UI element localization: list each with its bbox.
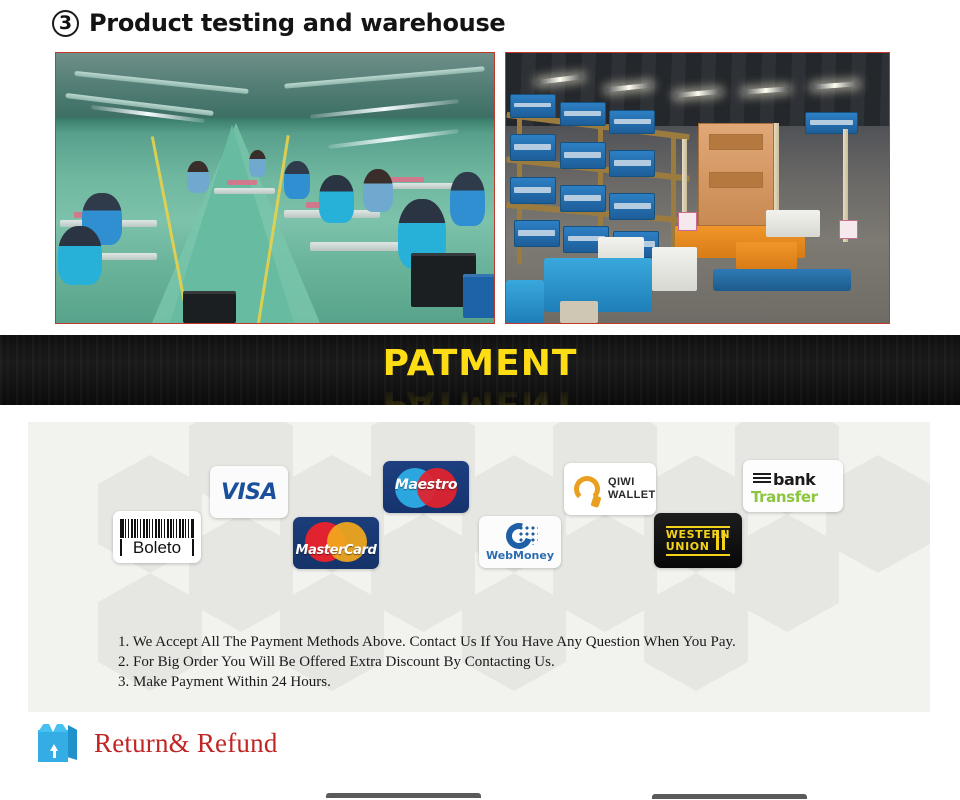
bank-lines-icon bbox=[753, 473, 771, 485]
warehouse-racks-photo bbox=[505, 52, 890, 324]
payment-terms-list: 1. We Accept All The Payment Methods Abo… bbox=[118, 632, 878, 692]
payment-banner-title: PATMENT bbox=[0, 343, 960, 384]
return-refund-section: Return& Refund bbox=[36, 722, 278, 764]
payment-banner-reflection: PATMENT bbox=[0, 383, 960, 405]
payment-logo-boleto[interactable]: Boleto bbox=[113, 511, 201, 563]
mastercard-label: MasterCard bbox=[293, 543, 379, 558]
bank-transfer-label-line2: Transfer bbox=[751, 488, 818, 506]
box-return-icon bbox=[36, 722, 78, 764]
payment-logo-bank-transfer[interactable]: bank Transfer bbox=[743, 460, 843, 512]
page-title: Product testing and warehouse bbox=[89, 9, 505, 37]
payment-banner: PATMENT PATMENT bbox=[0, 335, 960, 405]
qiwi-label-line1: QIWI bbox=[608, 476, 656, 489]
product-listing-page: 3 Product testing and warehouse bbox=[0, 0, 960, 800]
section-header: 3 Product testing and warehouse bbox=[0, 0, 960, 46]
factory-assembly-line-photo bbox=[55, 52, 495, 324]
webmoney-dots-icon bbox=[518, 525, 538, 545]
bank-transfer-label-line1: bank bbox=[773, 470, 815, 489]
payment-logo-western-union[interactable]: WESTERN UNION bbox=[654, 513, 742, 568]
payment-logo-maestro[interactable]: Maestro bbox=[383, 461, 469, 513]
qiwi-tail-icon bbox=[590, 495, 601, 508]
boleto-label: Boleto bbox=[120, 539, 194, 556]
payment-term-2: 2. For Big Order You Will Be Offered Ext… bbox=[118, 652, 878, 672]
photo-row bbox=[0, 52, 960, 330]
payment-term-3: 3. Make Payment Within 24 Hours. bbox=[118, 672, 878, 692]
payment-logo-qiwi-wallet[interactable]: QIWI WALLET bbox=[564, 463, 656, 515]
payment-term-1: 1. We Accept All The Payment Methods Abo… bbox=[118, 632, 878, 652]
table-edge-right bbox=[652, 794, 807, 799]
return-refund-title: Return& Refund bbox=[94, 728, 278, 759]
section-number-badge: 3 bbox=[52, 10, 79, 37]
maestro-label: Maestro bbox=[383, 477, 469, 493]
payment-logo-webmoney[interactable]: WebMoney bbox=[479, 516, 561, 568]
visa-label: VISA bbox=[221, 480, 277, 505]
table-edge-left bbox=[326, 793, 481, 798]
payment-logo-visa[interactable]: VISA bbox=[210, 466, 288, 518]
western-union-bars-icon bbox=[716, 530, 728, 550]
payment-logo-mastercard[interactable]: MasterCard bbox=[293, 517, 379, 569]
webmoney-label: WebMoney bbox=[479, 549, 561, 562]
barcode-icon bbox=[120, 519, 194, 538]
qiwi-label-line2: WALLET bbox=[608, 489, 656, 502]
